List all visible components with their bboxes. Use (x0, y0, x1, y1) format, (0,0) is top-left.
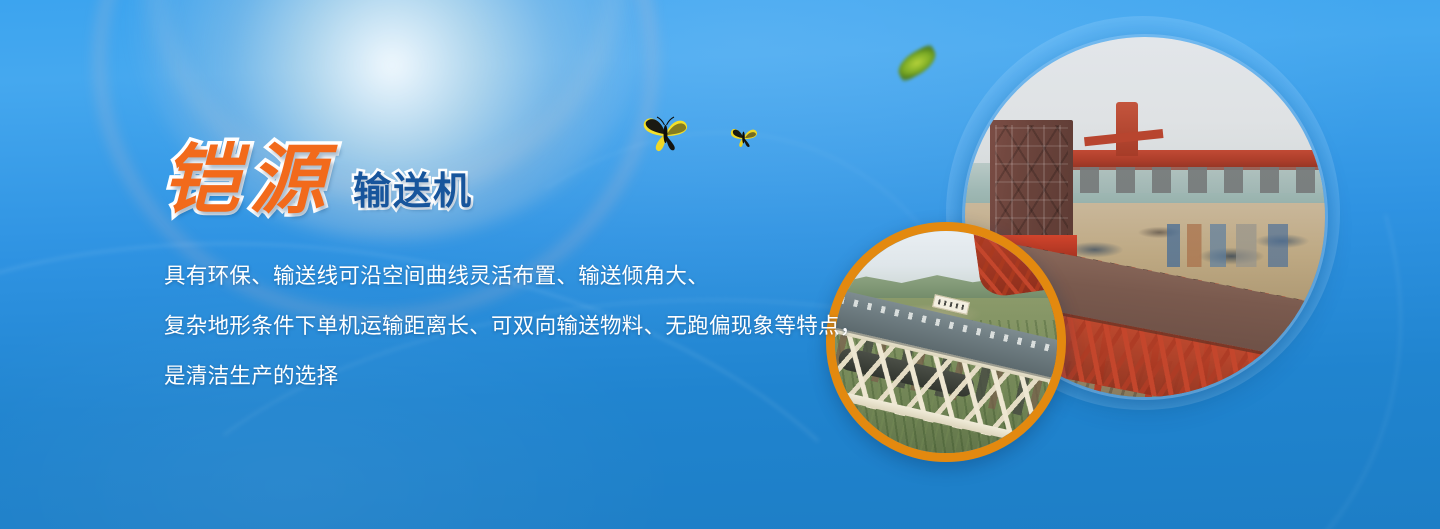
butterfly-large-icon (641, 111, 693, 153)
small-scene-red-structure (972, 222, 1066, 299)
description-line-1: 具有环保、输送线可沿空间曲线灵活布置、输送倾角大、 (164, 252, 954, 302)
butterfly-small-icon (729, 124, 759, 149)
scene-jetty-piers (1044, 167, 1325, 192)
scene-transfer-tower (990, 120, 1073, 242)
scene-crane-tower (1116, 102, 1138, 156)
description-block: 具有环保、输送线可沿空间曲线灵活布置、输送倾角大、 复杂地形条件下单机运输距离长… (164, 252, 954, 402)
brand-name: 铠源 (163, 142, 335, 220)
scene-containers (1167, 224, 1311, 267)
product-name: 输送机 (353, 172, 473, 220)
headline: 铠源 输送机 (163, 142, 473, 220)
description-line-2: 复杂地形条件下单机运输距离长、可双向输送物料、无跑偏现象等特点， (164, 302, 954, 352)
leaf-icon (893, 43, 940, 82)
hero-banner: 铠源 输送机 具有环保、输送线可沿空间曲线灵活布置、输送倾角大、 复杂地形条件下… (0, 0, 1440, 529)
description-line-3: 是清洁生产的选择 (164, 352, 954, 402)
